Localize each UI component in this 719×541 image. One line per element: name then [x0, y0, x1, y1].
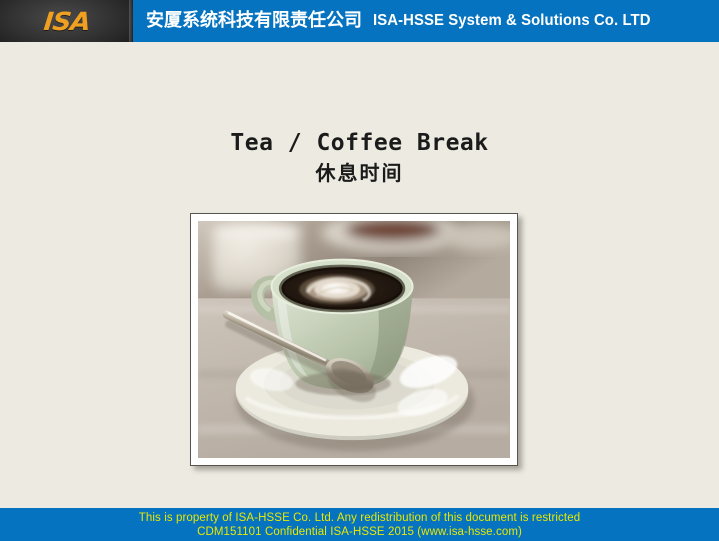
footer-document-line: CDM151101 Confidential ISA-HSSE 2015 (ww… — [0, 525, 719, 539]
slide-footer: This is property of ISA-HSSE Co. Ltd. An… — [0, 508, 719, 541]
page-title: Tea / Coffee Break — [0, 131, 719, 156]
footer-copyright-line: This is property of ISA-HSSE Co. Ltd. An… — [0, 511, 719, 525]
slide-body: Tea / Coffee Break 休息时间 — [0, 42, 719, 508]
slide-header: ISA 安厦系统科技有限责任公司 ISA-HSSE System & Solut… — [0, 0, 719, 42]
company-name-chinese: 安厦系统科技有限责任公司 — [146, 12, 362, 30]
isa-logo-text: ISA — [42, 9, 90, 34]
photo-frame — [190, 213, 518, 466]
header-title-group: 安厦系统科技有限责任公司 ISA-HSSE System & Solutions… — [133, 0, 719, 42]
company-name-english: ISA-HSSE System & Solutions Co. LTD — [373, 13, 651, 29]
coffee-cup-image — [198, 221, 510, 458]
coffee-cup-illustration — [198, 221, 510, 458]
presentation-slide: ISA 安厦系统科技有限责任公司 ISA-HSSE System & Solut… — [0, 0, 719, 541]
page-subtitle: 休息时间 — [0, 161, 719, 185]
company-logo: ISA — [0, 0, 133, 42]
